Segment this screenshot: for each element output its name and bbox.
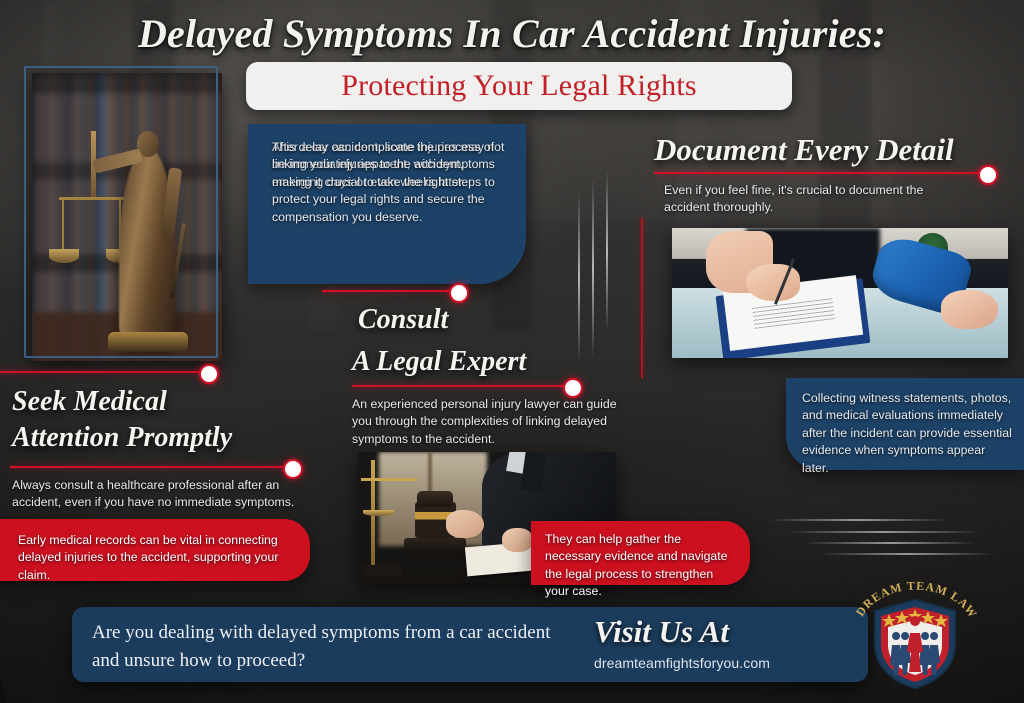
footer-question: Are you dealing with delayed symptoms fr… [92, 619, 562, 674]
medical-dot-top [199, 364, 219, 384]
desk-scales-beam [361, 478, 418, 481]
casted-hand [941, 290, 998, 329]
intro-panel: After a car accident, some injuries may … [248, 124, 526, 284]
medical-rule-top [0, 371, 206, 373]
website-url[interactable]: dreamteamfightsforyou.com [594, 655, 770, 671]
decor-hline-1 [768, 519, 948, 521]
shield-icon [872, 598, 958, 690]
statue-photo-frame [24, 66, 218, 358]
document-detail-panel: Collecting witness statements, photos, a… [786, 378, 1024, 470]
gavel-sound-block [404, 538, 466, 554]
visit-us-heading: Visit Us At [594, 614, 729, 650]
medical-section-heading-line2: Attention Promptly [12, 422, 232, 454]
consult-section-heading-line2: A Legal Expert [352, 346, 526, 378]
consult-subtext: An experienced personal injury lawyer ca… [352, 396, 624, 448]
document-section-heading: Document Every Detail [654, 132, 954, 168]
dream-team-law-logo[interactable]: DREAM TEAM LAW [852, 578, 978, 696]
document-subtext: Even if you feel fine, it's crucial to d… [664, 182, 964, 217]
writing-hand [746, 264, 800, 300]
document-panel-text: Collecting witness statements, photos, a… [802, 390, 1012, 477]
consult-rule-top [322, 290, 452, 292]
desk-scales-base [361, 565, 402, 577]
gavel-top [417, 491, 453, 507]
consult-dot-top [449, 283, 469, 303]
consult-rule-bottom [352, 385, 570, 387]
consult-panel-text: They can help gather the necessary evide… [545, 531, 738, 601]
medical-rule-bottom [10, 466, 292, 468]
page-title: Delayed Symptoms In Car Accident Injurie… [0, 10, 1024, 57]
decor-vline-red [641, 218, 643, 378]
consult-dot-bottom [563, 378, 583, 398]
decor-vline-3 [606, 170, 608, 332]
lawyer-hand [446, 510, 485, 539]
medical-records-panel: Early medical records can be vital in co… [0, 519, 310, 581]
medical-section-heading-line1: Seek Medical [12, 386, 167, 418]
decor-vline-1 [578, 192, 580, 362]
consult-evidence-panel: They can help gather the necessary evide… [531, 521, 750, 585]
lawyer-hand-2 [502, 528, 533, 552]
clipboard-cast-photo [672, 228, 1008, 358]
intro-paragraph-2: This delay can complicate the process of… [272, 139, 506, 226]
decor-hline-4 [820, 553, 994, 555]
infographic-canvas: Delayed Symptoms In Car Accident Injurie… [0, 0, 1024, 703]
medical-subtext: Always consult a healthcare professional… [12, 477, 300, 512]
page-subtitle: Protecting Your Legal Rights [341, 69, 697, 103]
consult-section-heading-line1: Consult [358, 304, 448, 336]
subtitle-band: Protecting Your Legal Rights [246, 62, 792, 110]
decor-hline-3 [803, 542, 978, 544]
document-rule-dot [978, 165, 998, 185]
medical-panel-text: Early medical records can be vital in co… [18, 532, 296, 584]
medical-dot-bottom [283, 459, 303, 479]
document-rule [654, 172, 990, 174]
decor-hline-2 [787, 531, 980, 533]
decor-vline-2 [592, 178, 594, 358]
